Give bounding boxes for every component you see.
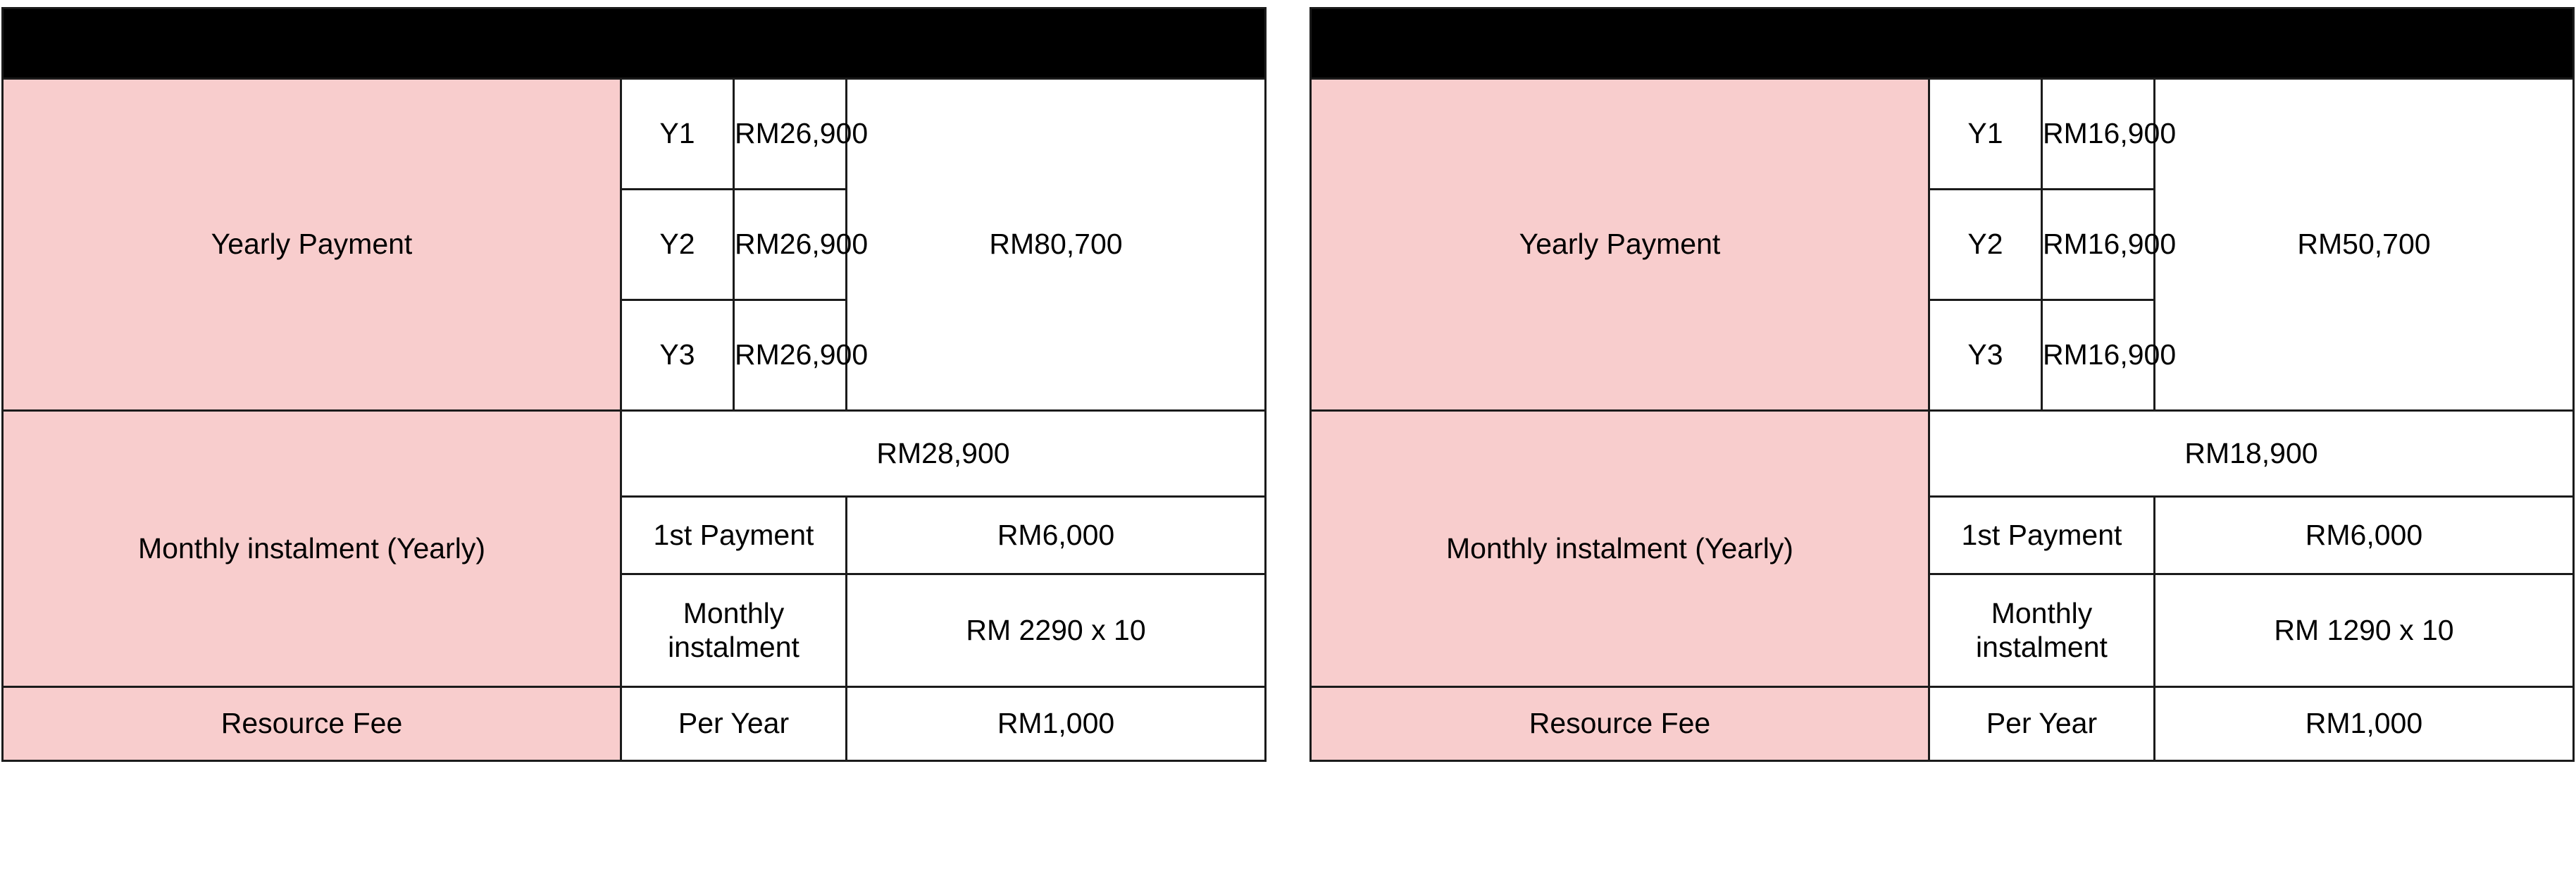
year-label-y2: Y2	[621, 190, 734, 300]
fee-tables-sheet: BACHELORS SCHOLARSHIP (2026) STANDARD PR…	[0, 0, 2576, 888]
year-label-y3: Y3	[1929, 300, 2041, 411]
year-label-y2: Y2	[1929, 190, 2041, 300]
monthly-instalment-label: Monthly instalment	[621, 574, 847, 687]
title-line-1: BACHELORS SCHOLARSHIP (2026)	[4, 10, 1264, 44]
section-label-yearly-payment: Yearly Payment	[3, 79, 621, 411]
year-amount-y3: RM16,900	[2041, 300, 2154, 411]
year-label-y3: Y3	[621, 300, 734, 411]
title-line-1: BACHELORS SCHOLARSHIP (2026)	[1312, 27, 2572, 61]
year-amount-y3: RM26,900	[734, 300, 847, 411]
first-payment-label: 1st Payment	[1929, 497, 2154, 574]
table-row-resource-fee: Resource Fee Per Year RM1,000	[3, 687, 1266, 761]
section-label-yearly-payment: Yearly Payment	[1310, 79, 1929, 411]
fee-table-scholarship-price: BACHELORS SCHOLARSHIP (2026) Yearly Paym…	[1309, 7, 2575, 762]
monthly-instalment-yearly-total: RM18,900	[1929, 411, 2573, 497]
table-title-scholarship-price: BACHELORS SCHOLARSHIP (2026)	[1310, 8, 2573, 79]
section-label-resource-fee: Resource Fee	[1310, 687, 1929, 761]
monthly-instalment-yearly-total: RM28,900	[621, 411, 1266, 497]
table-header-row: BACHELORS SCHOLARSHIP (2026)	[1310, 8, 2573, 79]
year-amount-y1: RM26,900	[734, 79, 847, 190]
first-payment-amount: RM6,000	[847, 497, 1266, 574]
table-row-resource-fee: Resource Fee Per Year RM1,000	[1310, 687, 2573, 761]
table-row-yearly-y1: Yearly Payment Y1 RM16,900 RM50,700	[1310, 79, 2573, 190]
year-amount-y1: RM16,900	[2041, 79, 2154, 190]
resource-fee-amount: RM1,000	[847, 687, 1266, 761]
table-row-instalment-total: Monthly instalment (Yearly) RM28,900	[3, 411, 1266, 497]
year-label-y1: Y1	[621, 79, 734, 190]
year-amount-y2: RM16,900	[2041, 190, 2154, 300]
yearly-payment-total: RM50,700	[2154, 79, 2573, 411]
resource-fee-amount: RM1,000	[2154, 687, 2573, 761]
resource-fee-period: Per Year	[1929, 687, 2154, 761]
resource-fee-period: Per Year	[621, 687, 847, 761]
table-header-row: BACHELORS SCHOLARSHIP (2026) STANDARD PR…	[3, 8, 1266, 79]
table-row-instalment-total: Monthly instalment (Yearly) RM18,900	[1310, 411, 2573, 497]
yearly-payment-total: RM80,700	[847, 79, 1266, 411]
first-payment-amount: RM6,000	[2154, 497, 2573, 574]
year-amount-y2: RM26,900	[734, 190, 847, 300]
monthly-instalment-label: Monthly instalment	[1929, 574, 2154, 687]
monthly-instalment-amount: RM 1290 x 10	[2154, 574, 2573, 687]
table-title-standard-price: BACHELORS SCHOLARSHIP (2026) STANDARD PR…	[3, 8, 1266, 79]
section-label-monthly-instalment: Monthly instalment (Yearly)	[3, 411, 621, 687]
monthly-instalment-amount: RM 2290 x 10	[847, 574, 1266, 687]
section-label-monthly-instalment: Monthly instalment (Yearly)	[1310, 411, 1929, 687]
fee-table-standard-price: BACHELORS SCHOLARSHIP (2026) STANDARD PR…	[1, 7, 1267, 762]
first-payment-label: 1st Payment	[621, 497, 847, 574]
title-line-2: STANDARD PRICE	[4, 44, 1264, 78]
table-row-yearly-y1: Yearly Payment Y1 RM26,900 RM80,700	[3, 79, 1266, 190]
year-label-y1: Y1	[1929, 79, 2041, 190]
section-label-resource-fee: Resource Fee	[3, 687, 621, 761]
